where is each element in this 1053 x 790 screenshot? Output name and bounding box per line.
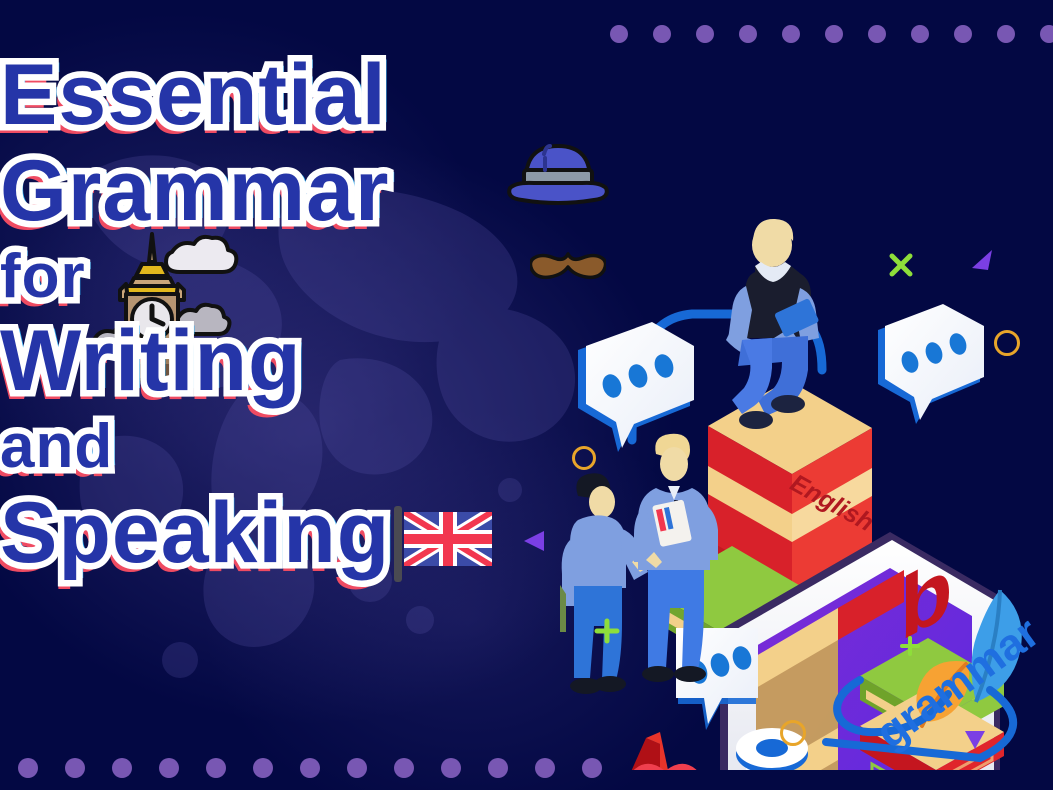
orange-ring-icon — [994, 330, 1020, 356]
title-line-5: and and and and and — [0, 416, 620, 488]
decor-dot — [488, 758, 508, 778]
decor-dot — [206, 758, 226, 778]
green-cross-icon — [888, 252, 914, 278]
decor-dot — [782, 25, 800, 43]
decor-dot — [535, 758, 555, 778]
isometric-english-learning-scene: English — [560, 210, 1053, 770]
decor-dot — [159, 758, 179, 778]
title-fill: Essential — [0, 52, 620, 138]
student-figure — [560, 473, 652, 694]
speech-bubble-icon — [878, 304, 984, 424]
purple-triangle-icon — [522, 528, 546, 554]
poster-canvas: Essential Essential Essential Essential … — [0, 0, 1053, 790]
decor-dot — [1040, 25, 1053, 43]
title-fill: and — [0, 416, 620, 478]
decor-dot — [954, 25, 972, 43]
green-plus-icon — [900, 636, 920, 656]
top-dot-row — [610, 25, 1053, 43]
decor-dot — [610, 25, 628, 43]
decor-dot — [441, 758, 461, 778]
decor-dot — [112, 758, 132, 778]
decor-dot — [825, 25, 843, 43]
title-line-1: Essential Essential Essential Essential … — [0, 52, 620, 144]
decor-dot — [18, 758, 38, 778]
title-line-4: Writing Writing Writing Writing Writing — [0, 318, 620, 414]
purple-triangle-icon — [962, 728, 988, 752]
title-line-2: Grammar Grammar Grammar Grammar Grammar — [0, 148, 620, 240]
decor-dot — [65, 758, 85, 778]
poster-title: Essential Essential Essential Essential … — [0, 52, 620, 586]
decor-dot — [300, 758, 320, 778]
decor-dot — [394, 758, 414, 778]
title-fill: Grammar — [0, 148, 620, 234]
green-plus-icon — [594, 618, 620, 644]
orange-ring-icon — [780, 720, 806, 746]
decor-dot — [739, 25, 757, 43]
decor-dot — [347, 758, 367, 778]
orange-ring-icon — [572, 446, 596, 470]
decor-dot — [253, 758, 273, 778]
title-line-3: for for for for for — [0, 246, 620, 316]
title-fill: for — [0, 246, 620, 308]
title-fill: Writing — [0, 318, 620, 404]
decor-dot — [997, 25, 1015, 43]
decor-dot — [868, 25, 886, 43]
decor-dot — [911, 25, 929, 43]
decor-dot — [653, 25, 671, 43]
purple-triangle-icon — [968, 248, 994, 272]
decor-dot — [696, 25, 714, 43]
bottom-dot-row — [18, 758, 602, 778]
